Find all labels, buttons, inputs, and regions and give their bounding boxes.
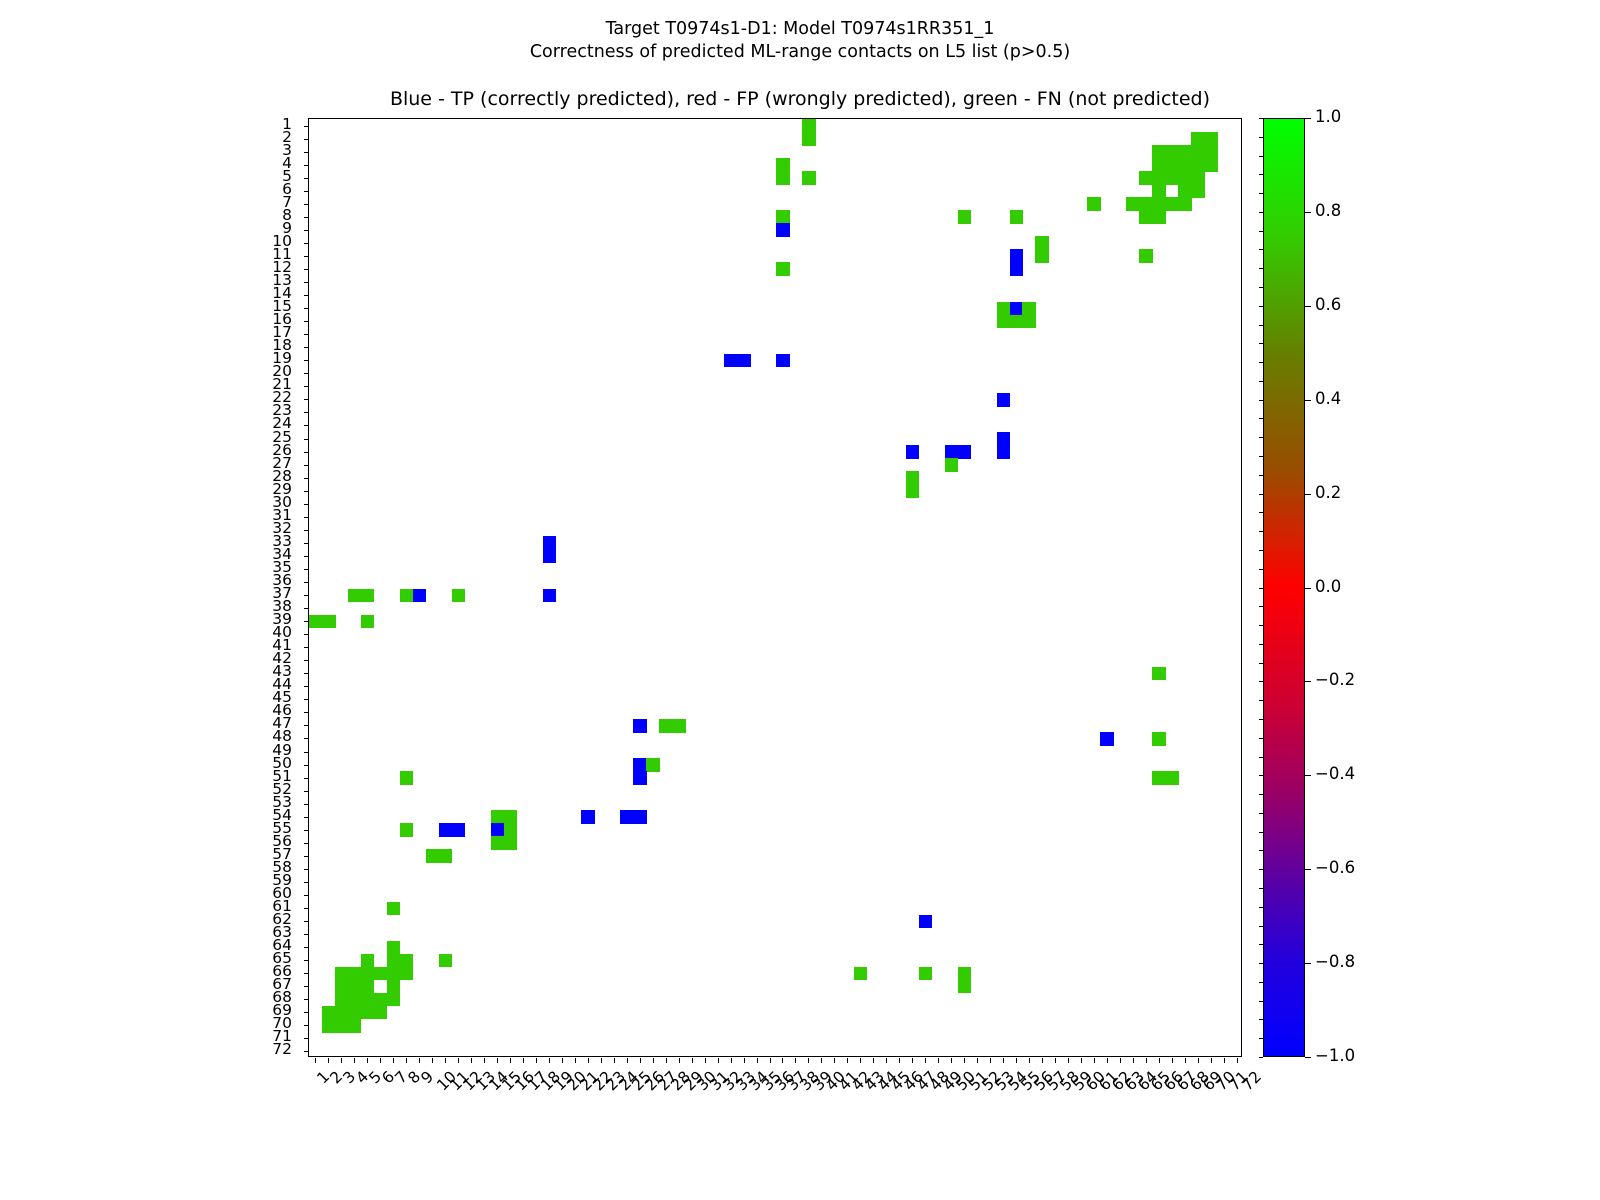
contact-cell <box>348 589 362 603</box>
contact-cell <box>387 980 401 994</box>
contact-cell <box>361 615 375 629</box>
colorbar-minor-tick <box>1259 775 1263 776</box>
contact-cell <box>958 980 972 994</box>
contact-cell <box>581 810 595 824</box>
contact-cell <box>374 993 388 1007</box>
y-tick <box>304 478 309 479</box>
y-tick <box>304 686 309 687</box>
colorbar-minor-tick <box>1259 475 1263 476</box>
colorbar-minor-tick <box>1259 757 1263 758</box>
y-tick <box>304 139 309 140</box>
contact-cell <box>1139 249 1153 263</box>
contact-cell <box>322 615 336 629</box>
contact-cell <box>335 967 349 981</box>
y-tick <box>304 126 309 127</box>
y-tick <box>304 452 309 453</box>
colorbar-minor-tick <box>1259 174 1263 175</box>
contact-map-cells <box>309 119 1241 1056</box>
contact-cell <box>672 719 686 733</box>
colorbar-tick-label: −0.6 <box>1315 860 1355 876</box>
contact-cell <box>906 445 920 459</box>
contact-cell <box>543 549 557 563</box>
y-tick <box>304 152 309 153</box>
y-tick <box>304 882 309 883</box>
contact-cell <box>1191 184 1205 198</box>
colorbar-tick <box>1305 118 1311 119</box>
contact-cell <box>1204 158 1218 172</box>
contact-cell <box>452 589 466 603</box>
contact-cell <box>802 132 816 146</box>
contact-cell <box>361 967 375 981</box>
colorbar-minor-tick <box>1259 963 1263 964</box>
colorbar-minor-tick <box>1259 1057 1263 1058</box>
colorbar-minor-tick <box>1259 193 1263 194</box>
contact-cell <box>1152 667 1166 681</box>
colorbar-minor-tick <box>1259 663 1263 664</box>
contact-cell <box>1087 197 1101 211</box>
colorbar-tick-label: 0.4 <box>1315 391 1341 407</box>
y-tick <box>304 1025 309 1026</box>
contact-cell <box>491 836 505 850</box>
colorbar-minor-tick <box>1259 212 1263 213</box>
contact-cell <box>439 823 453 837</box>
y-tick <box>304 399 309 400</box>
colorbar-tick <box>1305 212 1311 213</box>
y-tick <box>304 647 309 648</box>
contact-cell <box>633 810 647 824</box>
colorbar-minor-tick <box>1259 1001 1263 1002</box>
contact-cell <box>945 458 959 472</box>
y-tick <box>304 791 309 792</box>
contact-cell <box>335 1019 349 1033</box>
y-tick <box>304 621 309 622</box>
contact-cell <box>1152 771 1166 785</box>
contact-cell <box>374 1006 388 1020</box>
colorbar-tick <box>1305 588 1311 589</box>
contact-cell <box>361 1006 375 1020</box>
contact-cell <box>997 432 1011 446</box>
contact-cell <box>543 589 557 603</box>
colorbar-tick <box>1305 306 1311 307</box>
contact-cell <box>504 810 518 824</box>
colorbar-minor-tick <box>1259 569 1263 570</box>
contact-cell <box>919 967 933 981</box>
y-tick <box>304 1038 309 1039</box>
contact-cell <box>322 1019 336 1033</box>
colorbar-minor-tick <box>1259 850 1263 851</box>
contact-cell <box>504 823 518 837</box>
colorbar-minor-tick <box>1259 888 1263 889</box>
y-tick <box>304 843 309 844</box>
y-tick <box>304 269 309 270</box>
contact-cell <box>1010 315 1024 329</box>
y-tick <box>304 334 309 335</box>
y-tick <box>304 986 309 987</box>
y-tick <box>304 491 309 492</box>
colorbar-tick <box>1305 681 1311 682</box>
y-axis-tick-labels: 1234567891011121314151617181920212223242… <box>0 118 300 1057</box>
contact-cell <box>387 941 401 955</box>
colorbar-minor-tick <box>1259 1038 1263 1039</box>
contact-cell <box>374 967 388 981</box>
contact-cell <box>854 967 868 981</box>
colorbar-tick <box>1305 1057 1311 1058</box>
contact-cell <box>1204 132 1218 146</box>
contact-cell <box>387 993 401 1007</box>
y-tick <box>304 425 309 426</box>
contact-cell <box>1178 158 1192 172</box>
contact-cell <box>724 354 738 368</box>
contact-cell <box>1152 145 1166 159</box>
y-tick <box>304 947 309 948</box>
contact-cell <box>633 771 647 785</box>
colorbar-minor-tick <box>1259 832 1263 833</box>
contact-cell <box>620 810 634 824</box>
colorbar-minor-tick <box>1259 550 1263 551</box>
y-tick <box>304 530 309 531</box>
y-tick <box>304 856 309 857</box>
contact-cell <box>776 171 790 185</box>
contact-cell <box>945 445 959 459</box>
colorbar-minor-tick <box>1259 588 1263 589</box>
y-tick <box>304 752 309 753</box>
colorbar-minor-tick <box>1259 813 1263 814</box>
colorbar-tick-label: 0.6 <box>1315 297 1341 313</box>
colorbar-tick <box>1305 400 1311 401</box>
colorbar-minor-tick <box>1259 644 1263 645</box>
y-tick <box>304 243 309 244</box>
colorbar-tick-label: 1.0 <box>1315 109 1341 125</box>
contact-cell <box>958 445 972 459</box>
colorbar-minor-tick <box>1259 869 1263 870</box>
y-tick <box>304 191 309 192</box>
contact-cell <box>1178 184 1192 198</box>
colorbar-minor-tick <box>1259 606 1263 607</box>
contact-cell <box>1152 210 1166 224</box>
colorbar-gradient <box>1263 118 1305 1057</box>
contact-cell <box>1165 171 1179 185</box>
contact-cell <box>1191 145 1205 159</box>
contact-cell <box>633 758 647 772</box>
y-tick <box>304 673 309 674</box>
contact-cell <box>1139 210 1153 224</box>
y-tick <box>304 999 309 1000</box>
contact-cell <box>646 758 660 772</box>
contact-cell <box>361 980 375 994</box>
contact-cell <box>452 823 466 837</box>
figure-suptitle: Target T0974s1-D1: Model T0974s1RR351_1 … <box>0 18 1600 64</box>
contact-cell <box>958 210 972 224</box>
y-tick <box>304 308 309 309</box>
y-tick <box>304 869 309 870</box>
y-tick <box>304 517 309 518</box>
contact-cell <box>361 954 375 968</box>
contact-cell <box>361 993 375 1007</box>
contact-cell <box>439 849 453 863</box>
y-tick <box>304 908 309 909</box>
colorbar-ticks: 1.00.80.60.40.20.0−0.2−0.4−0.6−0.8−1.0 <box>1305 118 1425 1057</box>
contact-cell <box>387 902 401 916</box>
y-tick <box>304 921 309 922</box>
y-tick <box>304 569 309 570</box>
contact-cell <box>659 719 673 733</box>
colorbar-tick <box>1305 869 1311 870</box>
y-tick <box>304 217 309 218</box>
contact-cell <box>400 954 414 968</box>
contact-cell <box>1178 171 1192 185</box>
y-tick-label: 72 <box>272 1042 292 1057</box>
colorbar-minor-tick <box>1259 926 1263 927</box>
contact-cell <box>348 993 362 1007</box>
colorbar-minor-tick <box>1259 907 1263 908</box>
y-tick <box>304 895 309 896</box>
contact-cell <box>1191 132 1205 146</box>
y-tick <box>304 725 309 726</box>
x-tick-label: 9 <box>419 1069 437 1087</box>
contact-cell <box>348 980 362 994</box>
y-tick <box>304 1012 309 1013</box>
contact-cell <box>1139 171 1153 185</box>
contact-cell <box>1139 197 1153 211</box>
contact-cell <box>387 954 401 968</box>
colorbar-tick-label: 0.8 <box>1315 203 1341 219</box>
y-tick <box>304 960 309 961</box>
contact-cell <box>1010 302 1024 316</box>
colorbar-minor-tick <box>1259 738 1263 739</box>
contact-cell <box>1022 315 1036 329</box>
contact-cell <box>400 967 414 981</box>
contact-cell <box>1022 302 1036 316</box>
y-tick <box>304 295 309 296</box>
colorbar-tick-label: −1.0 <box>1315 1048 1355 1064</box>
contact-cell <box>387 967 401 981</box>
y-tick <box>304 712 309 713</box>
colorbar-minor-tick <box>1259 719 1263 720</box>
contact-cell <box>1152 197 1166 211</box>
contact-cell <box>335 980 349 994</box>
y-tick <box>304 765 309 766</box>
contact-cell <box>1010 210 1024 224</box>
y-tick <box>304 634 309 635</box>
contact-cell <box>1010 249 1024 263</box>
colorbar-minor-tick <box>1259 343 1263 344</box>
contact-cell <box>322 1006 336 1020</box>
contact-cell <box>1191 158 1205 172</box>
contact-cell <box>1035 249 1049 263</box>
colorbar-tick <box>1305 963 1311 964</box>
contact-cell <box>309 615 323 629</box>
colorbar-tick-label: −0.8 <box>1315 954 1355 970</box>
colorbar-minor-tick <box>1259 1019 1263 1020</box>
contact-cell <box>1191 171 1205 185</box>
y-tick <box>304 165 309 166</box>
colorbar-minor-tick <box>1259 531 1263 532</box>
contact-cell <box>361 589 375 603</box>
contact-cell <box>426 849 440 863</box>
colorbar-minor-tick <box>1259 156 1263 157</box>
y-tick <box>304 817 309 818</box>
contact-cell <box>1152 158 1166 172</box>
colorbar-minor-tick <box>1259 512 1263 513</box>
contact-cell <box>1035 236 1049 250</box>
colorbar-minor-tick <box>1259 437 1263 438</box>
colorbar-tick <box>1305 775 1311 776</box>
colorbar-minor-tick <box>1259 418 1263 419</box>
colorbar-minor-tick <box>1259 249 1263 250</box>
contact-cell <box>1165 771 1179 785</box>
y-tick <box>304 556 309 557</box>
y-tick <box>304 256 309 257</box>
contact-cell <box>1010 262 1024 276</box>
colorbar-tick-label: 0.0 <box>1315 579 1341 595</box>
y-tick <box>304 204 309 205</box>
colorbar-tick-label: −0.4 <box>1315 766 1355 782</box>
y-tick <box>304 347 309 348</box>
contact-cell <box>400 823 414 837</box>
y-tick <box>304 973 309 974</box>
colorbar-minor-tick <box>1259 268 1263 269</box>
y-tick <box>304 230 309 231</box>
colorbar-tick <box>1305 494 1311 495</box>
y-tick <box>304 543 309 544</box>
suptitle-line-1: Target T0974s1-D1: Model T0974s1RR351_1 <box>0 18 1600 41</box>
colorbar-minor-tick <box>1259 794 1263 795</box>
contact-cell <box>776 210 790 224</box>
y-tick <box>304 660 309 661</box>
colorbar-minor-tick <box>1259 381 1263 382</box>
contact-cell <box>1152 171 1166 185</box>
y-tick <box>304 504 309 505</box>
y-tick <box>304 178 309 179</box>
contact-cell <box>335 1006 349 1020</box>
contact-cell <box>504 836 518 850</box>
contact-cell <box>776 354 790 368</box>
y-tick <box>304 282 309 283</box>
colorbar-tick-label: −0.2 <box>1315 672 1355 688</box>
contact-cell <box>1126 197 1140 211</box>
contact-cell <box>400 589 414 603</box>
colorbar-minor-tick <box>1259 681 1263 682</box>
y-tick <box>304 934 309 935</box>
x-axis-tick-labels: 1234567891011121314151617181920212223242… <box>308 1063 1268 1143</box>
y-tick <box>304 778 309 779</box>
colorbar-minor-tick <box>1259 700 1263 701</box>
contact-cell <box>997 302 1011 316</box>
colorbar-minor-tick <box>1259 231 1263 232</box>
suptitle-line-2: Correctness of predicted ML-range contac… <box>0 41 1600 64</box>
y-tick <box>304 595 309 596</box>
colorbar-minor-tick <box>1259 118 1263 119</box>
contact-cell <box>1165 197 1179 211</box>
contact-cell <box>1178 197 1192 211</box>
contact-cell <box>1152 732 1166 746</box>
colorbar-minor-tick <box>1259 944 1263 945</box>
colorbar-minor-tick <box>1259 982 1263 983</box>
y-tick <box>304 465 309 466</box>
y-tick <box>304 804 309 805</box>
contact-cell <box>633 719 647 733</box>
colorbar-minor-tick <box>1259 494 1263 495</box>
contact-cell <box>348 1019 362 1033</box>
colorbar-minor-tick <box>1259 400 1263 401</box>
y-tick <box>304 439 309 440</box>
contact-cell <box>997 315 1011 329</box>
contact-cell <box>1152 184 1166 198</box>
contact-cell <box>958 967 972 981</box>
y-tick <box>304 373 309 374</box>
contact-cell <box>997 393 1011 407</box>
y-tick <box>304 582 309 583</box>
contact-cell <box>1100 732 1114 746</box>
y-tick <box>304 321 309 322</box>
colorbar-minor-tick <box>1259 287 1263 288</box>
y-tick <box>304 738 309 739</box>
contact-cell <box>1178 145 1192 159</box>
colorbar-minor-tick <box>1259 306 1263 307</box>
y-tick <box>304 830 309 831</box>
contact-cell <box>776 158 790 172</box>
y-tick <box>304 608 309 609</box>
colorbar-minor-tick <box>1259 625 1263 626</box>
contact-cell <box>1165 158 1179 172</box>
colorbar-tick-label: 0.2 <box>1315 485 1341 501</box>
y-tick <box>304 360 309 361</box>
contact-cell <box>802 171 816 185</box>
contact-cell <box>906 484 920 498</box>
contact-cell <box>737 354 751 368</box>
contact-cell <box>348 967 362 981</box>
y-tick <box>304 412 309 413</box>
contact-cell <box>491 810 505 824</box>
y-tick <box>304 1051 309 1052</box>
contact-cell <box>491 823 505 837</box>
axes-title-legend: Blue - TP (correctly predicted), red - F… <box>0 88 1600 110</box>
contact-cell <box>776 262 790 276</box>
contact-cell <box>1165 145 1179 159</box>
contact-cell <box>348 1006 362 1020</box>
contact-cell <box>802 119 816 133</box>
contact-cell <box>413 589 427 603</box>
contact-cell <box>997 445 1011 459</box>
y-tick <box>304 386 309 387</box>
contact-cell <box>776 223 790 237</box>
y-tick <box>304 699 309 700</box>
contact-cell <box>906 471 920 485</box>
colorbar-minor-tick <box>1259 325 1263 326</box>
contact-cell <box>543 536 557 550</box>
contact-cell <box>400 771 414 785</box>
contact-cell <box>439 954 453 968</box>
colorbar-minor-tick <box>1259 456 1263 457</box>
contact-cell <box>919 915 933 929</box>
colorbar-minor-tick <box>1259 137 1263 138</box>
contact-map-plot[interactable] <box>308 118 1242 1057</box>
contact-cell <box>335 993 349 1007</box>
colorbar-minor-tick <box>1259 362 1263 363</box>
contact-cell <box>1204 145 1218 159</box>
